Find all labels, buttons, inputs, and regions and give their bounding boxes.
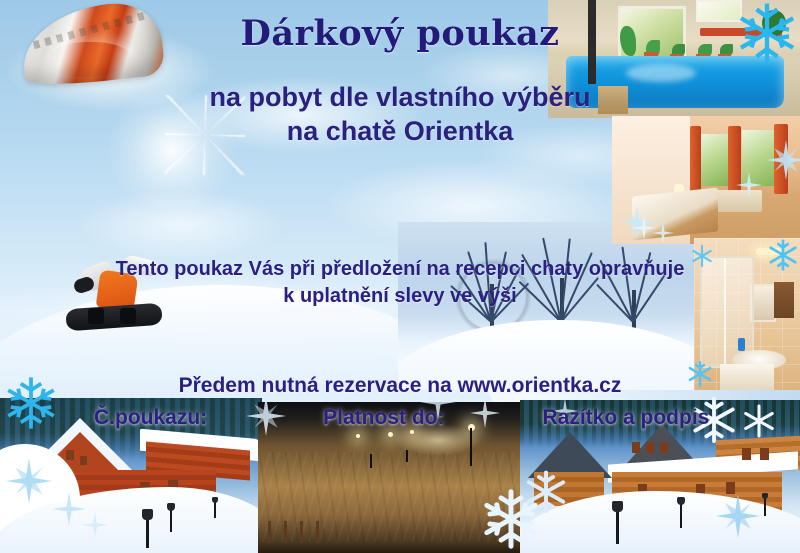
voucher-terms-line-2: k uplatnění slevy ve výši [0, 285, 800, 307]
gift-voucher-card: Dárkový poukaz na pobyt dle vlastního vý… [0, 0, 800, 553]
field-label-voucher-number: Č.poukazu: [94, 406, 207, 430]
voucher-terms: Tento poukaz Vás při předložení na recep… [0, 258, 800, 308]
field-label-valid-until: Platnost do: [323, 406, 444, 430]
subtitle-line-2: na chatě Orientka [0, 116, 800, 146]
field-label-stamp-and-signature: Razítko a podpis [543, 406, 710, 430]
reservation-note: Předem nutná rezervace na www.orientka.c… [0, 374, 800, 398]
page-title: Dárkový poukaz [0, 14, 800, 53]
subtitle: na pobyt dle vlastního výběru na chatě O… [0, 82, 800, 146]
subtitle-line-1: na pobyt dle vlastního výběru [209, 82, 590, 112]
voucher-terms-line-1: Tento poukaz Vás při předložení na recep… [116, 258, 685, 280]
voucher-fields-row: Č.poukazu: Platnost do: Razítko a podpis [0, 406, 800, 438]
